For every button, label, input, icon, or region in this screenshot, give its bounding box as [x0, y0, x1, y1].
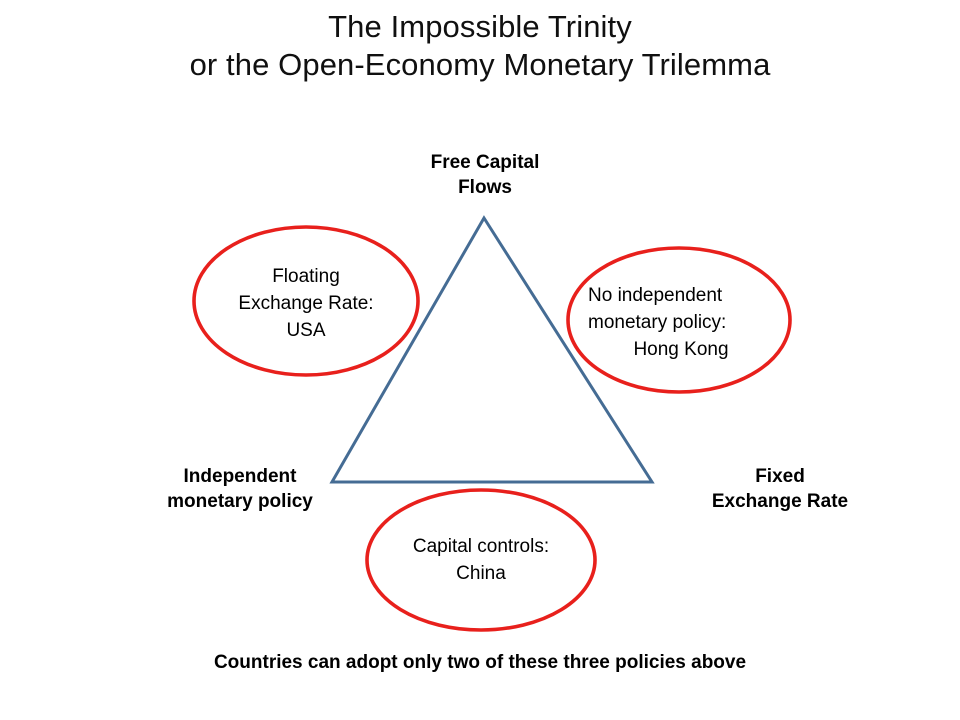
bubble-left-line-3: USA [206, 317, 406, 344]
bubble-text-hong-kong: No independent monetary policy: Hong Kon… [588, 282, 774, 363]
vertex-label-fixed-exchange-rate: Fixed Exchange Rate [680, 464, 880, 514]
bubble-bottom-line-1: Capital controls: [381, 533, 581, 560]
bubble-right-line-2: monetary policy: [588, 309, 774, 336]
bubble-text-usa: Floating Exchange Rate: USA [206, 263, 406, 344]
vertex-left-line-2: monetary policy [140, 489, 340, 514]
vertex-label-free-capital-flows: Free Capital Flows [385, 150, 585, 200]
trilemma-diagram [0, 0, 960, 720]
bubble-left-line-2: Exchange Rate: [206, 290, 406, 317]
bubble-left-line-1: Floating [206, 263, 406, 290]
vertex-left-line-1: Independent [140, 464, 340, 489]
bubble-bottom-line-2: China [381, 560, 581, 587]
vertex-right-line-2: Exchange Rate [680, 489, 880, 514]
footer-caption: Countries can adopt only two of these th… [0, 652, 960, 674]
slide-canvas: The Impossible Trinity or the Open-Econo… [0, 0, 960, 720]
vertex-top-line-1: Free Capital [385, 150, 585, 175]
bubble-right-line-3: Hong Kong [588, 336, 774, 363]
vertex-top-line-2: Flows [385, 175, 585, 200]
vertex-right-line-1: Fixed [680, 464, 880, 489]
bubble-right-line-1: No independent [588, 282, 774, 309]
vertex-label-independent-monetary-policy: Independent monetary policy [140, 464, 340, 514]
bubble-text-china: Capital controls: China [381, 533, 581, 587]
